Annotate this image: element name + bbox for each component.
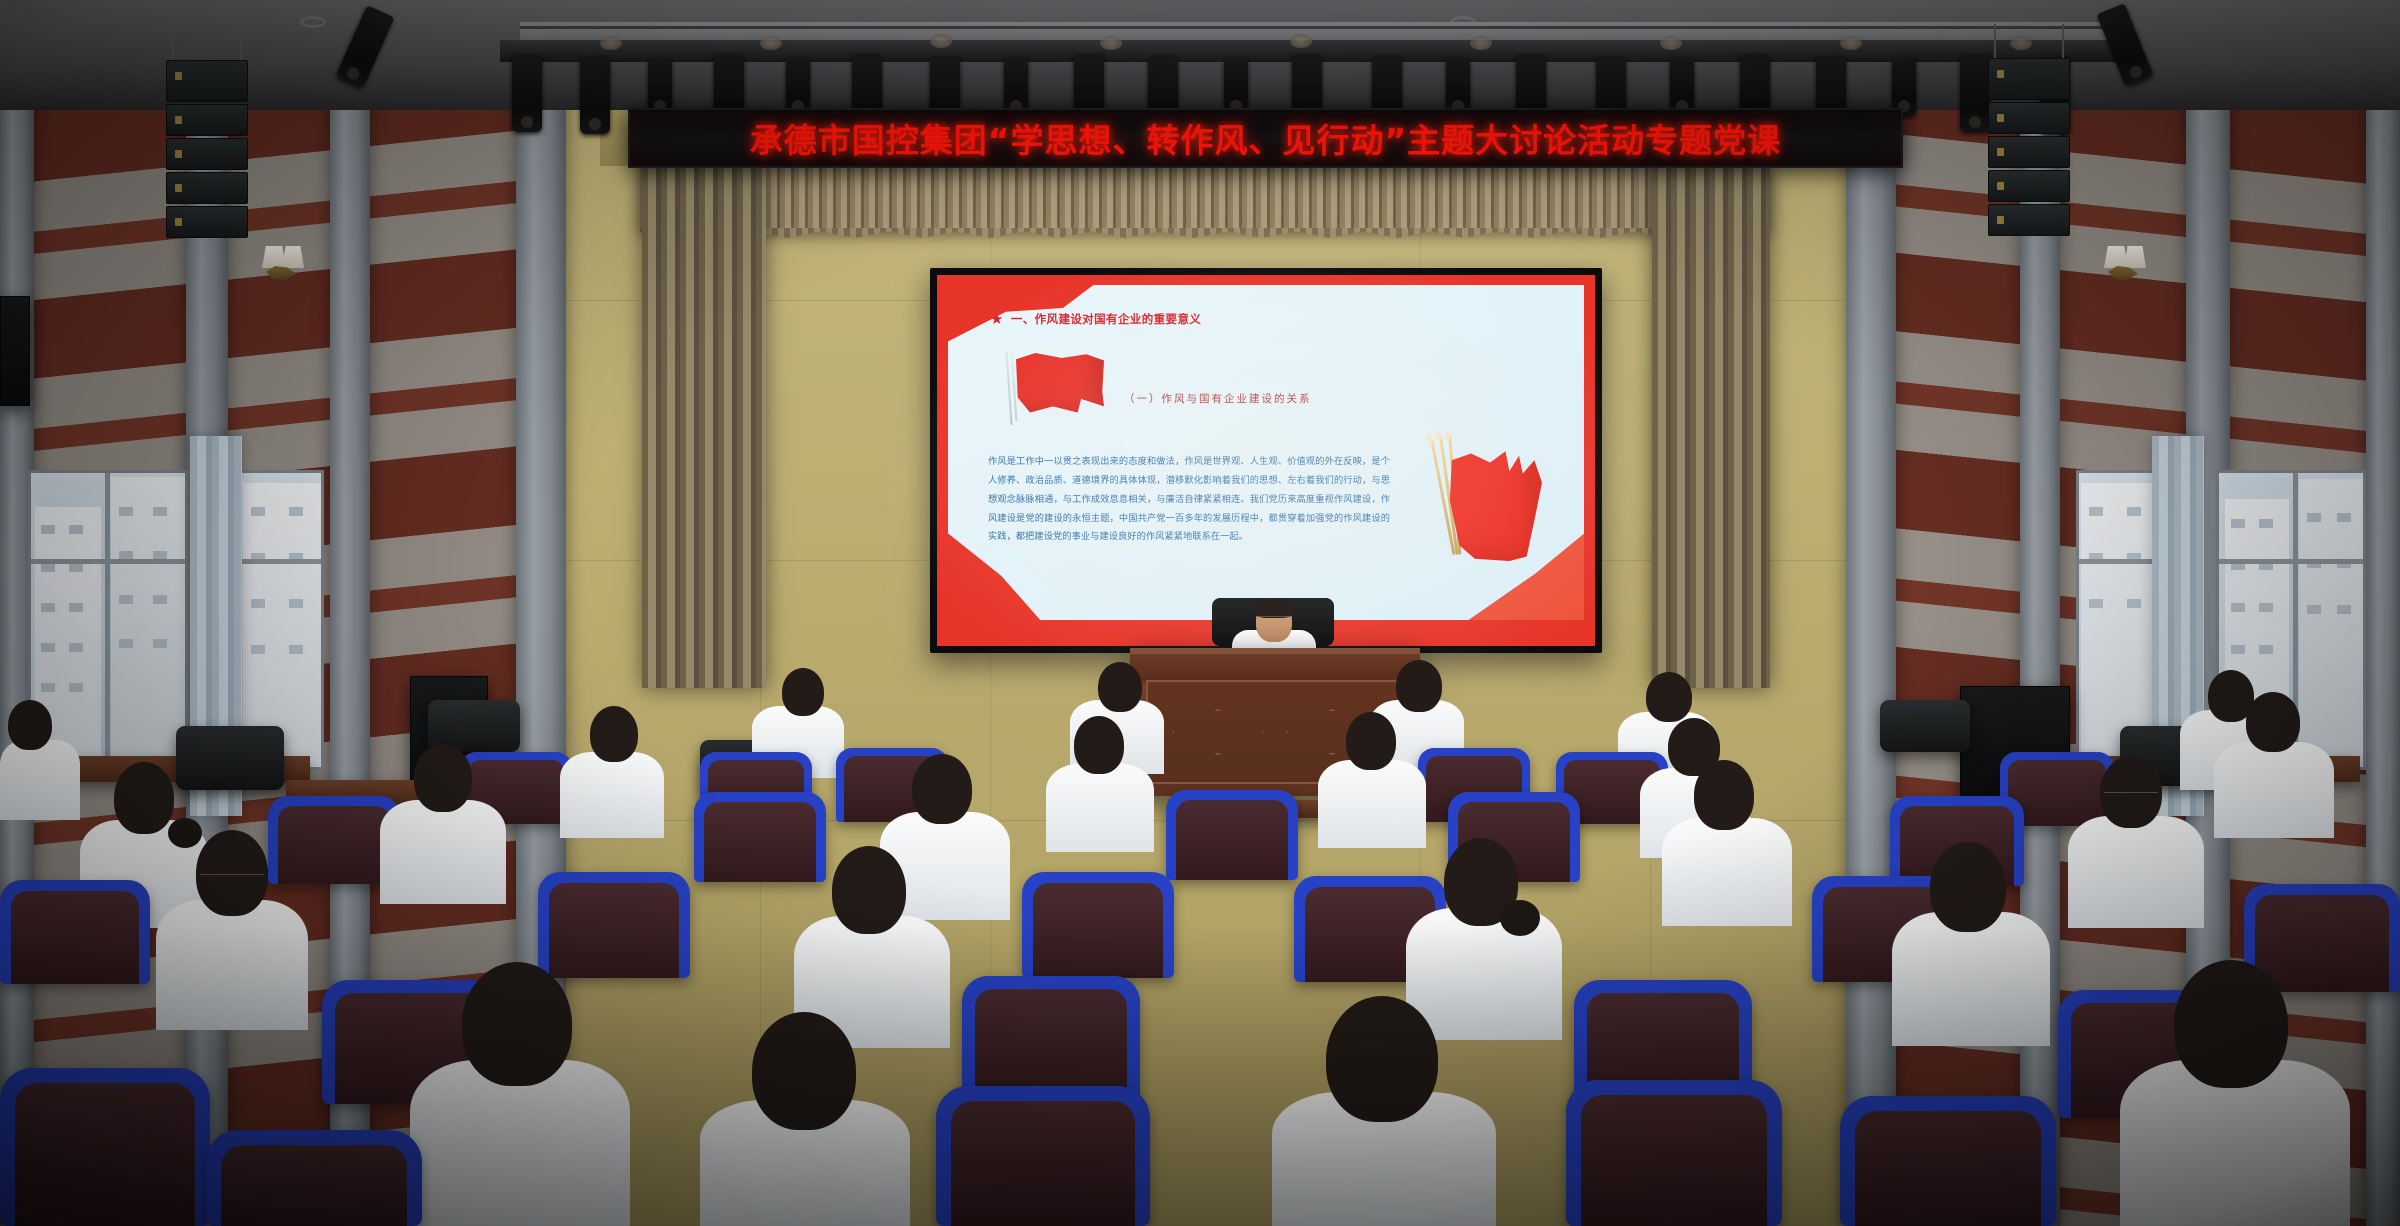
audience-member — [1892, 912, 2050, 1046]
audience-head — [752, 1012, 856, 1130]
auditorium-scene: 承德市国控集团“学思想、转作风、见行动”主题大讨论活动专题党课 ★ 一、作风建设… — [0, 0, 2400, 1226]
stage-curtain-right — [1652, 168, 1770, 688]
seat[interactable] — [1566, 1080, 1782, 1226]
led-banner: 承德市国控集团“学思想、转作风、见行动”主题大讨论活动专题党课 — [628, 108, 1903, 168]
seat[interactable] — [694, 792, 826, 882]
audience-member — [2068, 816, 2204, 928]
seat[interactable] — [1166, 790, 1298, 880]
slide-content: ★ 一、作风建设对国有企业的重要意义 （一）作风与国有企业建设的关系 作风是工作… — [948, 285, 1584, 620]
stage-curtain-left — [642, 168, 766, 688]
audience-head — [2174, 960, 2288, 1088]
column-right-stage — [1846, 0, 1896, 1226]
audience-member — [1662, 818, 1792, 926]
hair-bun — [168, 818, 202, 848]
audience-head — [1074, 716, 1124, 774]
audience-head — [462, 962, 572, 1086]
audience-member — [380, 800, 506, 904]
stage-light — [580, 56, 610, 134]
exec-chair-right2 — [1880, 700, 1970, 752]
glasses-icon — [2104, 792, 2158, 797]
speaker-cabinet-left-upper — [0, 296, 30, 406]
audience-head — [912, 754, 972, 824]
slide-heading: ★ 一、作风建设对国有企业的重要意义 — [990, 311, 1201, 327]
exec-chair-left — [176, 726, 284, 790]
slide-body-text: 作风是工作中一以贯之表现出来的态度和做法，作风是世界观、人生观、价值观的外在反映… — [988, 453, 1390, 547]
seat[interactable] — [538, 872, 690, 978]
seat[interactable] — [206, 1130, 422, 1226]
wall-sconce-right — [2104, 246, 2150, 280]
audience-head — [114, 762, 174, 834]
hair-bun — [1500, 900, 1540, 936]
seat[interactable] — [1840, 1096, 2056, 1226]
audience-member — [156, 900, 308, 1030]
stage-light — [1960, 54, 1990, 132]
curtain-valance — [640, 160, 1770, 230]
audience-member — [0, 740, 80, 820]
audience-head — [8, 700, 52, 750]
audience-member — [1046, 764, 1154, 852]
audience-head — [1326, 996, 1438, 1122]
audience-head — [196, 830, 268, 916]
audience-member — [560, 752, 664, 838]
audience-member — [2214, 742, 2334, 838]
seat[interactable] — [0, 1068, 210, 1226]
slide-subheading: （一）作风与国有企业建设的关系 — [1124, 391, 1312, 406]
column-right-outer — [2366, 0, 2400, 1226]
line-array-speaker-right — [1988, 58, 2070, 238]
window-left-1 — [28, 470, 188, 770]
audience-head — [832, 846, 906, 934]
audience-head — [1646, 672, 1692, 722]
audience-member — [1406, 908, 1562, 1040]
audience-head — [1930, 842, 2006, 932]
banner-text: 承德市国控集团“学思想、转作风、见行动”主题大讨论活动专题党课 — [750, 114, 1781, 162]
red-star-icon: ★ — [990, 312, 1004, 327]
window-right-1 — [2076, 470, 2162, 770]
audience-member — [1318, 760, 1426, 848]
glasses-icon — [1259, 616, 1289, 621]
line-array-speaker-left — [166, 60, 248, 240]
audience-head — [2246, 692, 2300, 752]
audience-head — [1098, 662, 1142, 712]
window-left-2 — [238, 470, 324, 770]
audience-head — [1346, 712, 1396, 770]
seat[interactable] — [962, 976, 1140, 1102]
audience-head — [590, 706, 638, 762]
seat[interactable] — [1022, 872, 1174, 978]
slide-surface: ★ 一、作风建设对国有企业的重要意义 （一）作风与国有企业建设的关系 作风是工作… — [937, 275, 1595, 646]
red-brush-fan-icon — [1422, 435, 1546, 563]
red-flag-icon — [1004, 347, 1108, 425]
slide-heading-text: 一、作风建设对国有企业的重要意义 — [1011, 311, 1201, 327]
stage-light — [512, 54, 542, 132]
audience-head — [414, 744, 472, 812]
seat[interactable] — [0, 880, 150, 984]
glasses-icon — [200, 874, 264, 879]
audience-head — [1396, 660, 1442, 712]
wall-sconce-left — [262, 246, 308, 280]
audience-head — [782, 668, 824, 716]
seat[interactable] — [936, 1086, 1150, 1226]
audience-head — [1694, 760, 1754, 830]
